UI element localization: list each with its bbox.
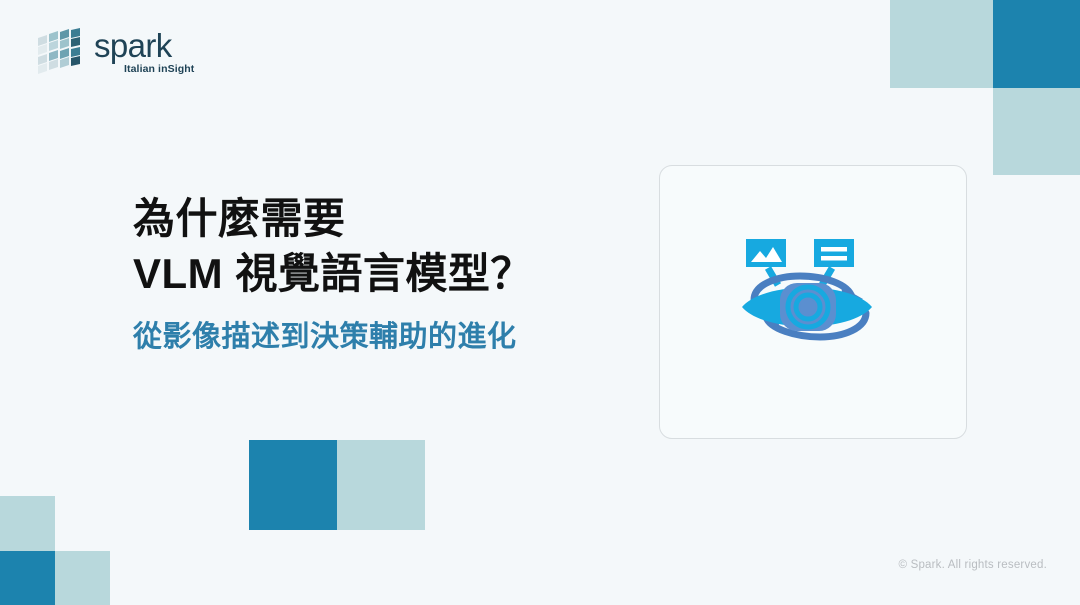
square-top-right-light-2: [993, 88, 1080, 175]
footer-copyright: © Spark. All rights reserved.: [899, 559, 1048, 571]
vision-language-eye-illustration: [738, 227, 888, 377]
spark-isometric-tiles-mark: [37, 28, 83, 76]
headline-block: 為什麼需要 VLM 視覺語言模型？ 從影像描述到決策輔助的進化: [133, 192, 633, 357]
page-title-line-1: 為什麼需要: [133, 192, 633, 247]
square-center-dark: [249, 440, 337, 530]
square-bottom-left-light-2: [55, 551, 110, 605]
illustration-card: [659, 165, 967, 439]
logo-text-group: spark Italian inSight: [94, 29, 194, 75]
page-title-line-2: VLM 視覺語言模型？: [133, 247, 633, 302]
square-bottom-left-light-1: [0, 496, 55, 551]
square-bottom-left-dark: [0, 551, 55, 605]
brand-logo: spark Italian inSight: [37, 28, 194, 76]
text-icon: [814, 239, 854, 267]
logo-tagline: Italian inSight: [124, 63, 194, 75]
logo-wordmark: spark: [94, 29, 172, 62]
page-subtitle: 從影像描述到決策輔助的進化: [133, 319, 633, 357]
square-top-right-dark: [993, 0, 1080, 88]
square-center-light: [337, 440, 425, 530]
image-icon: [746, 239, 786, 267]
square-top-right-light-1: [890, 0, 993, 88]
